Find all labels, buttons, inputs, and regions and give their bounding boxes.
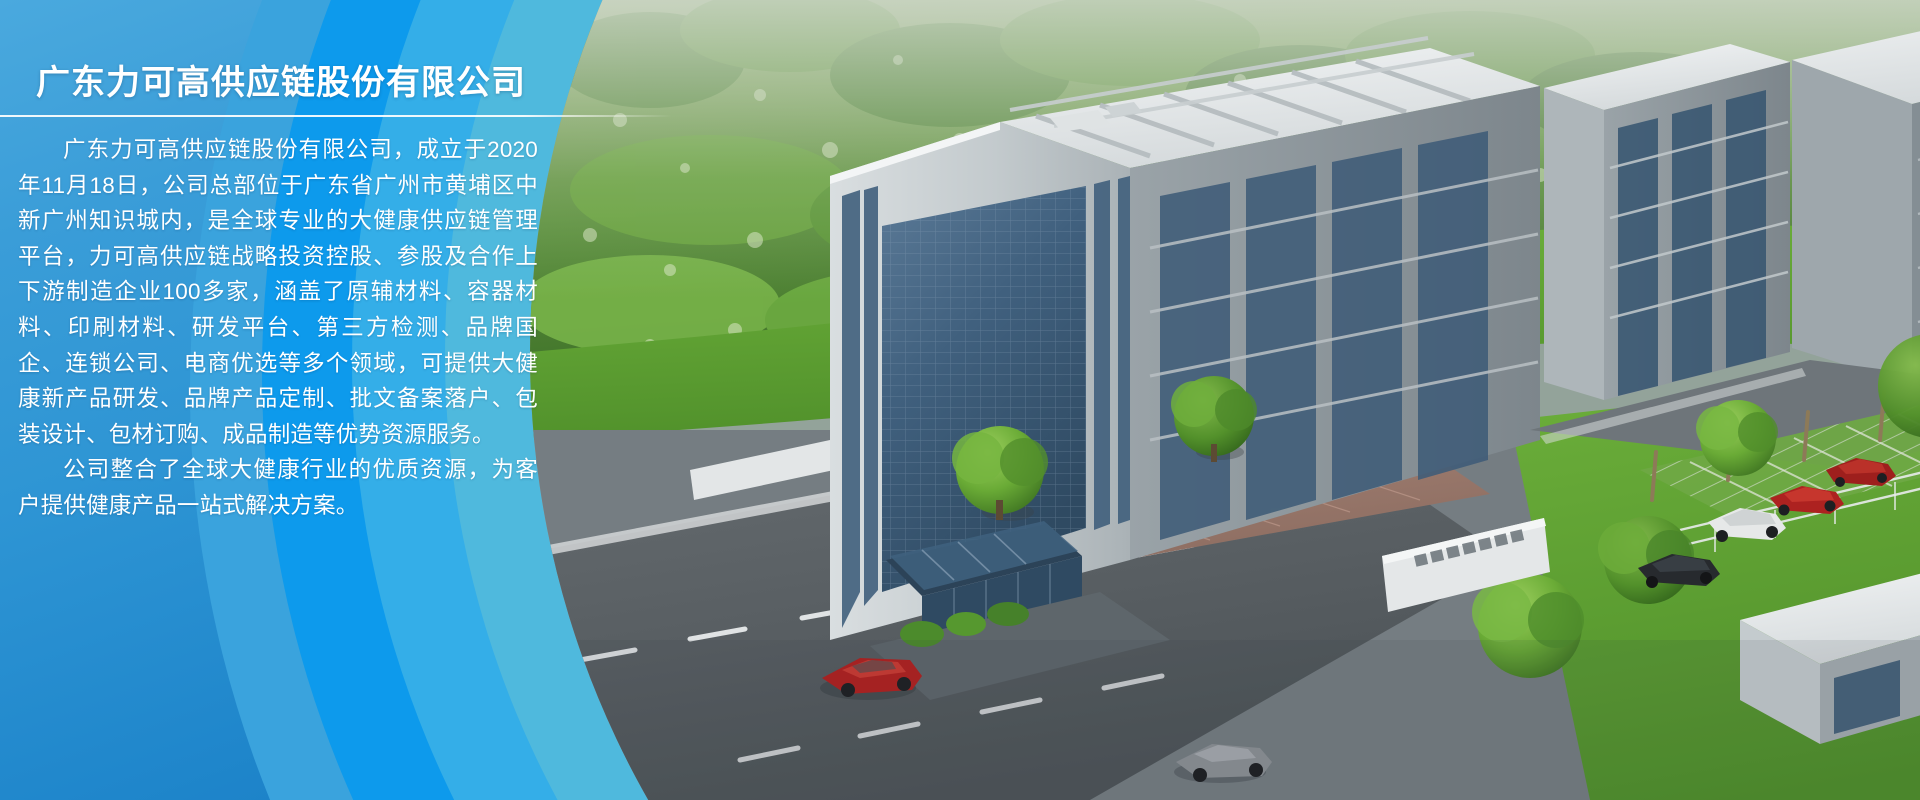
company-title: 广东力可高供应链股份有限公司 [36,55,526,104]
description-paragraph-1: 广东力可高供应链股份有限公司，成立于2020年11月18日，公司总部位于广东省广… [18,132,538,452]
company-description: 广东力可高供应链股份有限公司，成立于2020年11月18日，公司总部位于广东省广… [18,132,538,524]
intro-text-column: 广东力可高供应链股份有限公司 广东力可高供应链股份有限公司，成立于2020年11… [0,0,620,800]
campus-scene [530,0,1920,800]
photo-circle-mask [530,0,1920,800]
campus-rendering-photo [530,0,1920,800]
hero-banner: 广东力可高供应链股份有限公司 广东力可高供应链股份有限公司，成立于2020年11… [0,0,1920,800]
description-paragraph-2: 公司整合了全球大健康行业的优质资源，为客户提供健康产品一站式解决方案。 [18,452,538,523]
title-divider [0,115,672,117]
